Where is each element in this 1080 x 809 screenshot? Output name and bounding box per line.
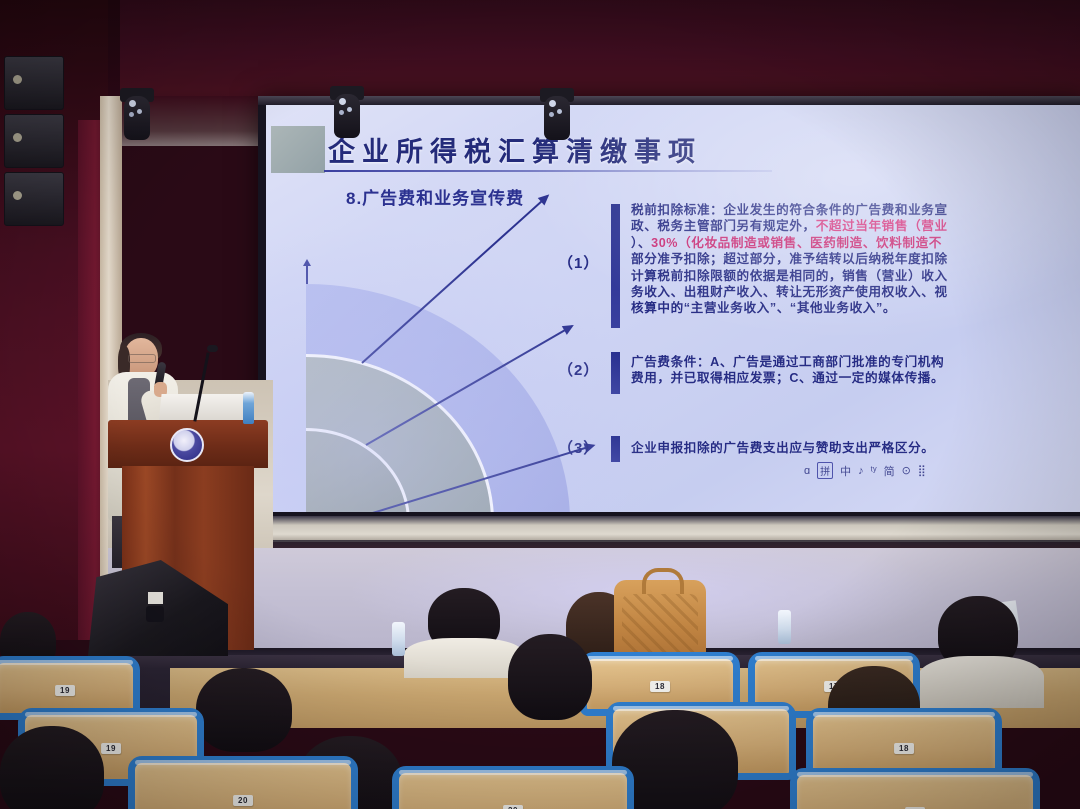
gooseneck-microphone-head-icon <box>207 345 218 352</box>
line-highlight: 30%（化妆品制造或销售、医药制造、饮料制造不 <box>651 236 942 250</box>
line: 税前扣除标准：企业发生的符合条件的广告费和业务宣 <box>631 203 948 217</box>
glasses-icon <box>128 354 156 363</box>
line: 政、税务主管部门另有规定外， <box>631 219 816 233</box>
item-number-3: （3） <box>558 437 599 458</box>
line: 部分准予扣除；超过部分，准予结转以后纳税年度扣除 <box>631 252 948 266</box>
line-array-speaker <box>4 56 64 110</box>
projection-screen: 企业所得税汇算清缴事项 8.广告费和业务宣传费 （1） （2） （3） <box>266 104 1080 512</box>
ime-tone-icon[interactable]: ♪ <box>858 465 864 477</box>
presentation-slide: 企业所得税汇算清缴事项 8.广告费和业务宣传费 （1） （2） （3） <box>266 104 1080 512</box>
seat-number: 20 <box>233 795 253 806</box>
seat: 20 <box>392 766 634 809</box>
water-bottle <box>392 622 405 656</box>
line-array-speaker <box>4 114 64 168</box>
seat: 20 <box>128 756 358 809</box>
lecture-hall-photo: 企业所得税汇算清缴事项 8.广告费和业务宣传费 （1） （2） （3） <box>0 0 1080 809</box>
concentric-arcs-graphic <box>280 256 570 512</box>
ime-keyboard-icon[interactable]: ⣿ <box>918 464 926 477</box>
item-body-2: 广告费条件：A、广告是通过工商部门批准的专门机构 费用，并已取得相应发票；C、通… <box>631 354 1080 387</box>
line: 务收入、出租财产收入、转让无形资产使用权收入、视 <box>631 285 948 299</box>
seat-number: 19 <box>101 743 121 754</box>
moving-head-light-icon <box>330 86 364 142</box>
line: 核算中的“主营业务收入”、“其他业务收入”。 <box>631 301 896 315</box>
item-number-1: （1） <box>558 252 599 273</box>
seat-number: 20 <box>503 805 523 809</box>
audience-shoulders <box>404 638 524 678</box>
item-body-3: 企业申报扣除的广告费支出应与赞助支出严格区分。 <box>631 440 1080 456</box>
line: 计算税前扣除限额的依据是相同的，销售（营业）收入 <box>631 269 948 283</box>
seat-number: 18 <box>894 743 914 754</box>
line: 企业申报扣除的广告费支出应与赞助支出严格区分。 <box>631 441 934 455</box>
line: ）、 <box>631 236 651 250</box>
school-crest-emblem <box>170 428 204 462</box>
ime-chinese-icon[interactable]: 中 <box>840 463 851 479</box>
seat-number: 19 <box>55 685 75 696</box>
slide-title: 企业所得税汇算清缴事项 <box>328 130 702 169</box>
item-body-1: 税前扣除标准：企业发生的符合条件的广告费和业务宣 政、税务主管部门另有规定外，不… <box>631 202 1080 317</box>
item-number-2: （2） <box>558 359 599 380</box>
line-array-speaker <box>4 172 64 226</box>
line-highlight: 不超过当年销售（营业 <box>816 219 948 233</box>
slide-subtitle: 8.广告费和业务宣传费 <box>346 184 524 209</box>
slide-decor-rectangle <box>271 126 325 173</box>
accent-bar-2 <box>611 352 620 394</box>
chinese-ime-status-bar[interactable]: ɑ 拼 中 ♪ ᵗʸ 简 ⊙ ⣿ <box>804 462 926 479</box>
audience-area: 19 18 17 19 19 18 20 20 <box>0 560 1080 809</box>
water-bottle <box>243 392 254 424</box>
accent-bar-1 <box>611 204 620 328</box>
line: 广告费条件：A、广告是通过工商部门批准的专门机构 <box>631 355 944 369</box>
screen-bottom-ledge <box>258 516 1080 542</box>
line: 费用，并已取得相应发票；C、通过一定的媒体传播。 <box>631 371 944 385</box>
slide-title-underline <box>324 170 772 172</box>
accent-bar-3 <box>611 436 620 462</box>
audience-head <box>196 668 292 752</box>
audience-head <box>508 634 592 720</box>
lighting-truss <box>258 96 1080 105</box>
line-array-speaker-stack <box>4 56 66 246</box>
ime-pinyin-icon[interactable]: 拼 <box>817 462 833 479</box>
ime-settings-icon[interactable]: ⊙ <box>902 464 911 477</box>
ime-simplified-icon[interactable]: 简 <box>884 463 895 479</box>
moving-head-light-icon <box>120 88 154 144</box>
ime-mode-icon[interactable]: ɑ <box>804 465 810 477</box>
audience-shoulders <box>918 656 1044 708</box>
audience-head <box>0 726 104 809</box>
water-bottle <box>778 610 791 644</box>
moving-head-light-icon <box>540 88 574 144</box>
seat-number: 18 <box>650 681 670 692</box>
seat: 19 <box>790 768 1040 809</box>
ime-punctuation-icon[interactable]: ᵗʸ <box>871 465 877 477</box>
